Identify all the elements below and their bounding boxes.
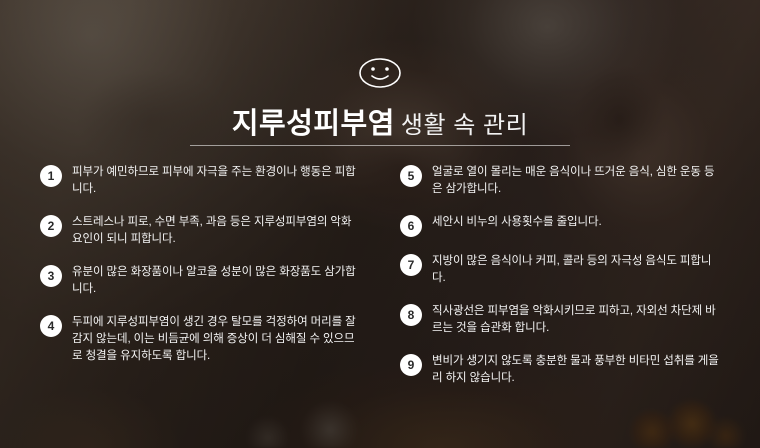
tip-number-badge: 7 [400, 254, 422, 276]
tip-text: 유분이 많은 화장품이나 알코올 성분이 많은 화장품도 삼가합니다. [72, 264, 360, 298]
tip-text: 직사광선은 피부염을 악화시키므로 피하고, 자외선 차단제 바르는 것을 습관… [432, 303, 720, 337]
list-item: 4 두피에 지루성피부염이 생긴 경우 탈모를 걱정하여 머리를 잘 감지 않는… [40, 314, 360, 365]
content-layer: 지루성피부염생활 속 관리 1 피부가 예민하므로 피부에 자극을 주는 환경이… [0, 0, 760, 448]
list-item: 5 얼굴로 열이 몰리는 매운 음식이나 뜨거운 음식, 심한 운동 등은 삼가… [400, 164, 720, 198]
list-item: 7 지방이 많은 음식이나 커피, 콜라 등의 자극성 음식도 피합니다. [400, 253, 720, 287]
tip-number-badge: 1 [40, 165, 62, 187]
tip-text: 변비가 생기지 않도록 충분한 물과 풍부한 비타민 섭취를 게을리 하지 않습… [432, 353, 720, 387]
title-main: 지루성피부염 [232, 108, 395, 140]
list-item: 8 직사광선은 피부염을 악화시키므로 피하고, 자외선 차단제 바르는 것을 … [400, 303, 720, 337]
tip-number-badge: 5 [400, 165, 422, 187]
title-divider [190, 145, 570, 146]
list-item: 1 피부가 예민하므로 피부에 자극을 주는 환경이나 행동은 피합니다. [40, 164, 360, 198]
tip-number-badge: 8 [400, 304, 422, 326]
tip-text: 세안시 비누의 사용횟수를 줄입니다. [432, 214, 602, 231]
smiley-face-icon [0, 56, 760, 95]
tip-number-badge: 4 [40, 315, 62, 337]
tip-text: 지방이 많은 음식이나 커피, 콜라 등의 자극성 음식도 피합니다. [432, 253, 720, 287]
infographic-banner: 지루성피부염생활 속 관리 1 피부가 예민하므로 피부에 자극을 주는 환경이… [0, 0, 760, 448]
tip-number-badge: 6 [400, 215, 422, 237]
page-title: 지루성피부염생활 속 관리 [0, 100, 760, 142]
tip-number-badge: 3 [40, 265, 62, 287]
list-item: 3 유분이 많은 화장품이나 알코올 성분이 많은 화장품도 삼가합니다. [40, 264, 360, 298]
tip-text: 스트레스나 피로, 수면 부족, 과음 등은 지루성피부염의 악화 요인이 되니… [72, 214, 360, 248]
title-sub: 생활 속 관리 [401, 112, 528, 139]
tip-number-badge: 9 [400, 354, 422, 376]
tip-text: 피부가 예민하므로 피부에 자극을 주는 환경이나 행동은 피합니다. [72, 164, 360, 198]
list-item: 9 변비가 생기지 않도록 충분한 물과 풍부한 비타민 섭취를 게을리 하지 … [400, 353, 720, 387]
tip-number-badge: 2 [40, 215, 62, 237]
tips-column-left: 1 피부가 예민하므로 피부에 자극을 주는 환경이나 행동은 피합니다. 2 … [40, 164, 360, 381]
tips-column-right: 5 얼굴로 열이 몰리는 매운 음식이나 뜨거운 음식, 심한 운동 등은 삼가… [400, 164, 720, 403]
list-item: 6 세안시 비누의 사용횟수를 줄입니다. [400, 214, 720, 237]
tip-text: 얼굴로 열이 몰리는 매운 음식이나 뜨거운 음식, 심한 운동 등은 삼가합니… [432, 164, 720, 198]
tip-text: 두피에 지루성피부염이 생긴 경우 탈모를 걱정하여 머리를 잘 감지 않는데,… [72, 314, 360, 365]
list-item: 2 스트레스나 피로, 수면 부족, 과음 등은 지루성피부염의 악화 요인이 … [40, 214, 360, 248]
